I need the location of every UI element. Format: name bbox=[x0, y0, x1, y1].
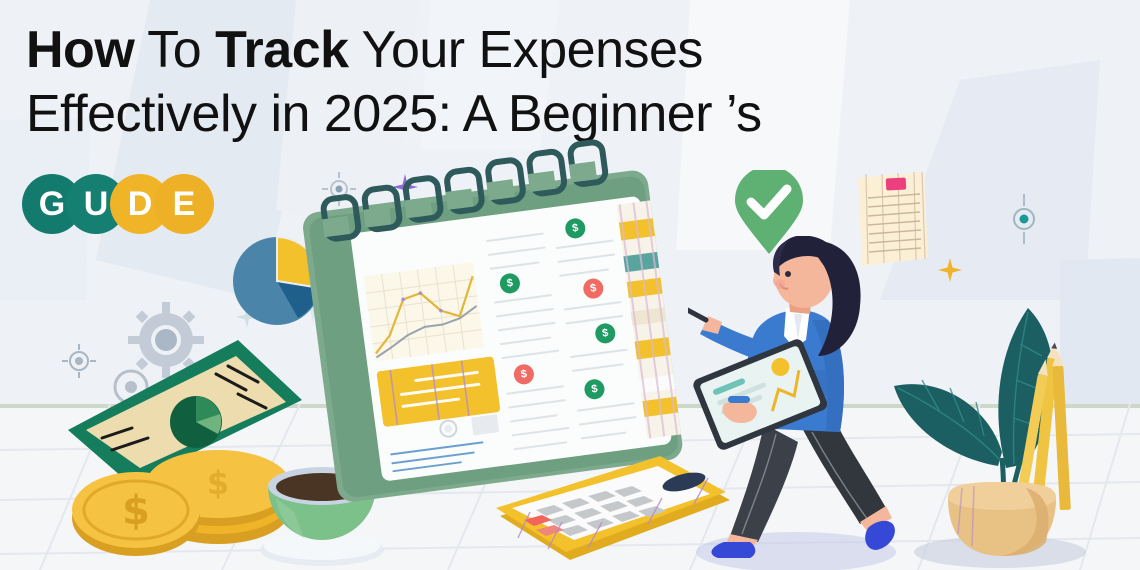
guide-badge: G U D E bbox=[22, 174, 232, 236]
notebook-page: $ $ $ $ $ bbox=[350, 196, 672, 482]
spiral-ring bbox=[484, 156, 528, 207]
target-icon bbox=[1004, 192, 1044, 246]
leaf bbox=[894, 384, 1002, 466]
stylus bbox=[688, 306, 706, 320]
expense-badge: $ bbox=[594, 322, 616, 344]
title-bold-how: How bbox=[26, 21, 134, 79]
svg-text:$: $ bbox=[207, 464, 229, 502]
spiral-ring bbox=[443, 165, 487, 216]
expense-badge: $ bbox=[583, 378, 605, 400]
expense-badge: $ bbox=[564, 217, 586, 239]
line-chart bbox=[364, 262, 484, 362]
title-line-1: How To Track Your Expenses bbox=[26, 18, 966, 82]
title-line-2: Effectively in 2025: A Beginner ’s bbox=[26, 82, 966, 146]
eye bbox=[785, 271, 791, 277]
page-title: How To Track Your Expenses Effectively i… bbox=[26, 18, 966, 146]
spiral-ring bbox=[360, 183, 404, 234]
spiral-ring bbox=[319, 193, 363, 244]
person-illustration bbox=[688, 236, 908, 570]
expense-badge: $ bbox=[513, 363, 535, 385]
spiral-ring bbox=[566, 138, 610, 189]
spiral-ring bbox=[401, 174, 445, 225]
title-post: Your Expenses bbox=[349, 21, 703, 79]
svg-text:$: $ bbox=[122, 488, 150, 534]
expense-badge: $ bbox=[582, 277, 604, 299]
guide-letter-e: E bbox=[154, 174, 214, 234]
spiral-ring bbox=[525, 147, 569, 198]
illustration-canvas: How To Track Your Expenses Effectively i… bbox=[0, 0, 1140, 570]
expense-badge: $ bbox=[499, 272, 521, 294]
title-mid: To bbox=[134, 21, 215, 79]
plant-and-pencils bbox=[880, 266, 1090, 570]
title-bold-track: Track bbox=[215, 21, 348, 79]
